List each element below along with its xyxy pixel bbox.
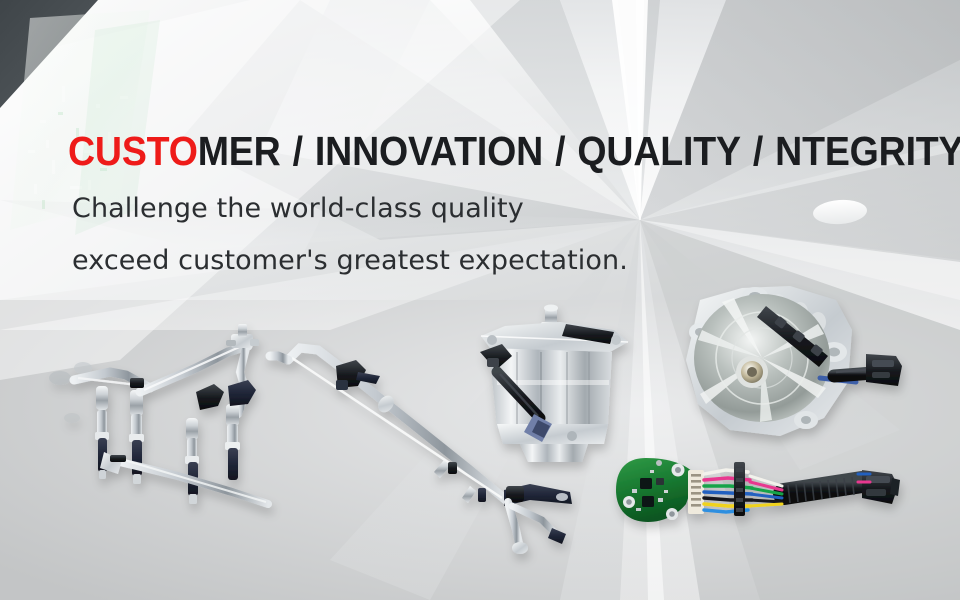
background-facets (0, 0, 960, 600)
values-banner: CUSTOMER / INNOVATION / QUALITY / NTEGRI… (0, 0, 960, 600)
